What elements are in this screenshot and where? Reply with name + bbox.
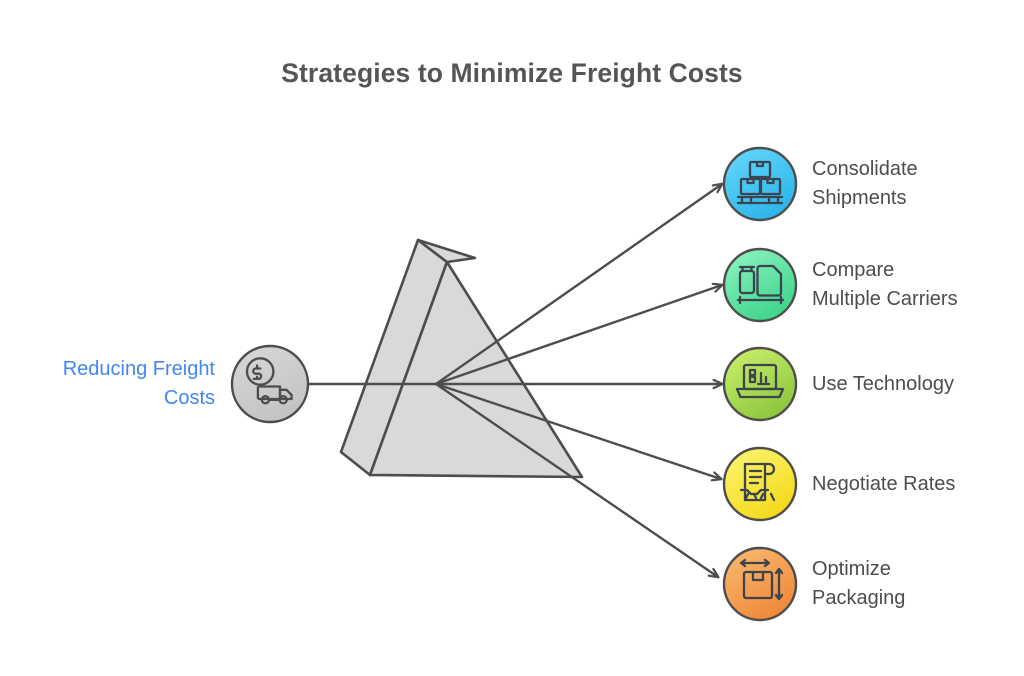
branch-label-optimize-packaging: Optimize Packaging: [812, 555, 905, 613]
branch-use-technology-node[interactable]: [724, 348, 796, 420]
branch-negotiate-rates-node[interactable]: [724, 448, 796, 520]
branch-compare-multiple-carriers-node[interactable]: [724, 249, 796, 321]
ray-to-optimize-packaging: [436, 384, 718, 577]
branch-circle-optimize-packaging[interactable]: [724, 548, 796, 620]
refracting-prism: [341, 240, 582, 477]
branch-label-negotiate-rates: Negotiate Rates: [812, 470, 955, 499]
source-circle[interactable]: [232, 346, 308, 422]
diagram-canvas: Strategies to Minimize Freight Costs Red…: [0, 0, 1024, 676]
branch-label-compare-multiple-carriers: Compare Multiple Carriers: [812, 256, 958, 314]
branch-consolidate-shipments-node[interactable]: [724, 148, 796, 220]
branch-label-consolidate-shipments: Consolidate Shipments: [812, 155, 918, 213]
branch-circle-compare-multiple-carriers[interactable]: [724, 249, 796, 321]
branch-optimize-packaging-node[interactable]: [724, 548, 796, 620]
branch-circle-negotiate-rates[interactable]: [724, 448, 796, 520]
ray-to-consolidate-shipments: [436, 184, 722, 384]
branch-label-use-technology: Use Technology: [812, 370, 954, 399]
source-node[interactable]: [232, 346, 308, 422]
